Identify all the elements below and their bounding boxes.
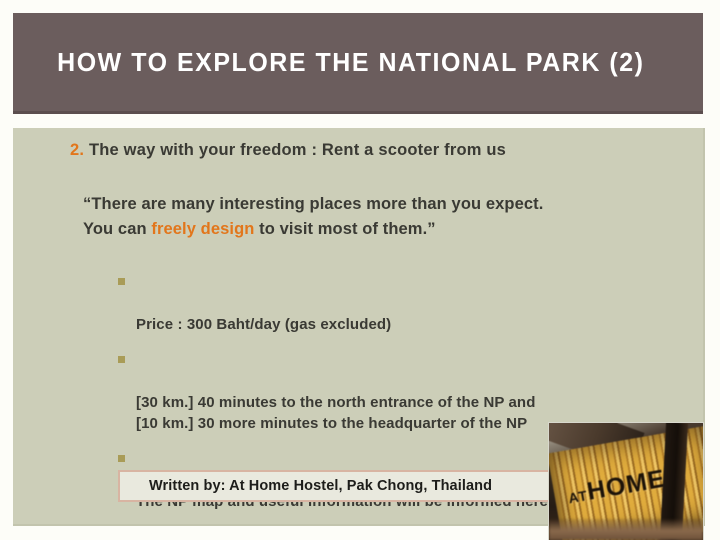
- square-bullet-icon: [118, 356, 125, 363]
- list-item-text: Price : 300 Baht/day (gas excluded): [136, 316, 391, 333]
- square-bullet-icon: [118, 455, 125, 462]
- at-home-hostel-sign-photo: ATHOME: [549, 423, 703, 540]
- photo-sign-main: HOME: [585, 465, 668, 506]
- photo-ground-layer: [549, 519, 703, 540]
- page-title: HOW TO EXPLORE THE NATIONAL PARK (2): [13, 47, 645, 78]
- list-item: Price : 300 Baht/day (gas excluded): [106, 272, 548, 335]
- photo-sign-prefix: AT: [567, 487, 589, 506]
- quote-block: “There are many interesting places more …: [83, 192, 543, 242]
- slide-canvas: HOW TO EXPLORE THE NATIONAL PARK (2) 2. …: [0, 0, 720, 540]
- quote-line-2-before: You can: [83, 220, 151, 238]
- quote-line-2: You can freely design to visit most of t…: [83, 217, 543, 242]
- quote-line-2-after: to visit most of them.”: [254, 220, 435, 238]
- section-heading: 2. The way with your freedom : Rent a sc…: [70, 141, 506, 160]
- list-item-text: [30 km.] 40 minutes to the north entranc…: [136, 394, 535, 432]
- quote-highlight: freely design: [151, 220, 254, 238]
- credit-text: Written by: At Home Hostel, Pak Chong, T…: [120, 478, 492, 494]
- quote-line-1: “There are many interesting places more …: [83, 192, 543, 217]
- credit-box: Written by: At Home Hostel, Pak Chong, T…: [118, 470, 561, 502]
- square-bullet-icon: [118, 278, 125, 285]
- slide-title-bar: HOW TO EXPLORE THE NATIONAL PARK (2): [13, 13, 703, 114]
- list-item: [30 km.] 40 minutes to the north entranc…: [106, 350, 548, 434]
- section-heading-number: 2.: [70, 141, 84, 159]
- section-heading-text: The way with your freedom : Rent a scoot…: [89, 141, 506, 159]
